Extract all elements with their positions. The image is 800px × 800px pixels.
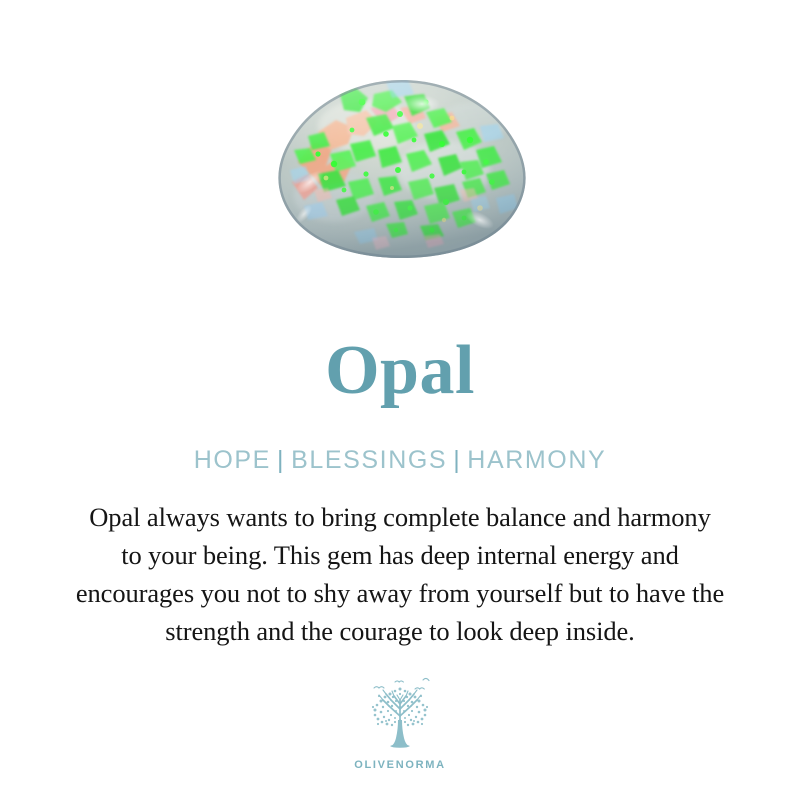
opal-cabochon-icon (274, 78, 530, 260)
keyword-separator-1: | (271, 446, 291, 474)
description-line: encourages you not to shy away from your… (20, 574, 780, 612)
page-title: Opal (0, 332, 800, 410)
description-text: Opal always wants to bring complete bala… (20, 498, 780, 650)
keyword-harmony: HARMONY (467, 446, 606, 474)
description-line: to your being. This gem has deep interna… (20, 536, 780, 574)
brand-logo[interactable]: OLIVENORMA (0, 676, 800, 771)
gemstone-image-stage (0, 78, 800, 308)
keyword-hope: HOPE (194, 446, 271, 474)
product-card: Opal HOPE|BLESSINGS|HARMONY Opal always … (0, 0, 800, 800)
tree-of-life-icon (357, 676, 443, 758)
description-line: Opal always wants to bring complete bala… (20, 498, 780, 536)
description-line: strength and the courage to look deep in… (20, 612, 780, 650)
keyword-line: HOPE|BLESSINGS|HARMONY (0, 445, 800, 475)
keyword-separator-2: | (447, 446, 467, 474)
flying-birds-icon (374, 678, 429, 689)
brand-name: OLIVENORMA (354, 759, 446, 771)
keyword-blessings: BLESSINGS (291, 446, 447, 474)
opal-gemstone-image (274, 78, 530, 260)
